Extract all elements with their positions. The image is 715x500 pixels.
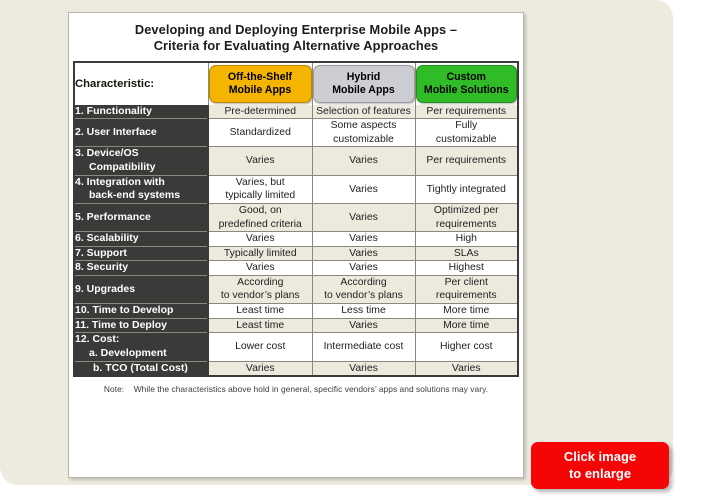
criteria-comparison-table: Characteristic: Off-the-Shelf Mobile App… [73,61,519,377]
characteristic-line-1: 5. Performance [75,211,151,223]
cell-line-1: Per requirements [416,105,518,119]
cell-cust: More time [415,303,518,318]
column-header-custom: Custom Mobile Solutions [415,62,518,105]
cell-line-1: Good, on [209,204,312,218]
cell-ots: Accordingto vendor’s plans [208,275,312,303]
cell-cust: Fullycustomizable [415,119,518,147]
cta-line-1: Click image [564,449,636,466]
cell-line-1: More time [416,319,518,333]
cell-line-1: Higher cost [416,340,518,354]
cell-ots: Varies [208,232,312,247]
cell-line-1: Lower cost [209,340,312,354]
table-row: 9. UpgradesAccordingto vendor’s plansAcc… [74,275,518,303]
cell-cust: Higher cost [415,333,518,361]
cell-hyb: Varies [312,361,415,376]
cell-hyb: Less time [312,303,415,318]
footnote-text: While the characteristics above hold in … [134,384,488,394]
characteristic-line-1: 9. Upgrades [75,283,135,295]
table-row: 12. Cost:a. DevelopmentLower costInterme… [74,333,518,361]
footnote-label: Note: [104,384,124,394]
characteristic-line-1: 12. Cost: [75,333,119,345]
cell-line-1: Varies [313,154,415,168]
table-row: 8. SecurityVariesVariesHighest [74,261,518,276]
cell-line-2: typically limited [209,189,312,203]
table-row: 7. SupportTypically limitedVariesSLAs [74,246,518,261]
cell-line-1: Varies [313,247,415,261]
cell-cust: More time [415,318,518,333]
cell-ots: Least time [208,303,312,318]
column-header-off-the-shelf: Off-the-Shelf Mobile Apps [208,62,312,105]
cell-line-2: requirements [416,289,518,303]
row-characteristic: 12. Cost:a. Development [74,333,208,361]
cell-line-1: Varies [313,362,415,376]
cell-ots: Pre-determined [208,105,312,119]
characteristic-line-1: 6. Scalability [75,232,139,244]
cell-line-2: to vendor’s plans [313,289,415,303]
table-header-row: Characteristic: Off-the-Shelf Mobile App… [74,62,518,105]
cell-line-1: Varies [209,261,312,275]
pill-hyb-line-2: Mobile Apps [332,84,395,96]
cell-line-1: Per requirements [416,154,518,168]
cell-cust: High [415,232,518,247]
table-row: 3. Device/OSCompatibilityVariesVariesPer… [74,147,518,175]
cell-line-1: Highest [416,261,518,275]
row-characteristic: 9. Upgrades [74,275,208,303]
table-row: b. TCO (Total Cost)VariesVariesVaries [74,361,518,376]
row-characteristic: b. TCO (Total Cost) [74,361,208,376]
row-characteristic: 6. Scalability [74,232,208,247]
cell-cust: Tightly integrated [415,175,518,203]
comparison-card: Developing and Deploying Enterprise Mobi… [68,12,524,478]
cell-ots: Least time [208,318,312,333]
cell-line-1: Intermediate cost [313,340,415,354]
pill-cust-line-1: Custom [447,71,486,83]
cell-ots: Varies [208,261,312,276]
cell-ots: Varies, buttypically limited [208,175,312,203]
cell-line-1: According [209,276,312,290]
cell-cust: SLAs [415,246,518,261]
row-characteristic: 2. User Interface [74,119,208,147]
characteristic-line-1: 3. Device/OS [75,147,139,159]
cell-hyb: Intermediate cost [312,333,415,361]
row-characteristic: 8. Security [74,261,208,276]
table-row: 5. PerformanceGood, onpredefined criteri… [74,203,518,231]
characteristic-line-1: 1. Functionality [75,105,152,117]
cell-cust: Per clientrequirements [415,275,518,303]
cell-hyb: Some aspectscustomizable [312,119,415,147]
row-characteristic: 7. Support [74,246,208,261]
row-characteristic: 4. Integration withback-end systems [74,175,208,203]
cell-hyb: Varies [312,246,415,261]
cell-line-1: Typically limited [209,247,312,261]
cell-cust: Highest [415,261,518,276]
cell-line-1: Optimized per [416,204,518,218]
characteristic-line-1: 7. Support [75,247,127,259]
characteristic-line-1: 10. Time to Develop [75,304,173,316]
cell-hyb: Varies [312,203,415,231]
table-row: 4. Integration withback-end systemsVarie… [74,175,518,203]
cell-line-1: Least time [209,304,312,318]
cell-line-1: Varies [209,154,312,168]
cell-ots: Lower cost [208,333,312,361]
characteristic-line-1: 2. User Interface [75,126,157,138]
cell-ots: Varies [208,361,312,376]
characteristic-line-2: Compatibility [75,161,207,175]
table-row: 10. Time to DevelopLeast timeLess timeMo… [74,303,518,318]
cell-hyb: Varies [312,232,415,247]
characteristic-line-1: 8. Security [75,261,128,273]
cell-cust: Per requirements [415,105,518,119]
table-body: 1. FunctionalityPre-determinedSelection … [74,105,518,376]
table-row: 6. ScalabilityVariesVariesHigh [74,232,518,247]
cell-line-1: Varies [313,183,415,197]
pill-ots-line-2: Mobile Apps [229,84,292,96]
cell-line-1: Standardized [209,126,312,140]
cell-line-1: Selection of features [313,105,415,119]
cell-line-1: Some aspects [313,119,415,133]
cell-line-1: Varies [209,232,312,246]
cell-cust: Optimized perrequirements [415,203,518,231]
cell-line-1: Less time [313,304,415,318]
title-line-2: Criteria for Evaluating Alternative Appr… [81,38,511,54]
cell-hyb: Varies [312,318,415,333]
cell-line-2: customizable [416,133,518,147]
pill-custom: Custom Mobile Solutions [416,65,518,103]
pill-ots-line-1: Off-the-Shelf [228,71,292,83]
cell-line-2: predefined criteria [209,218,312,232]
cell-line-1: Pre-determined [209,105,312,119]
table-row: 11. Time to DeployLeast timeVariesMore t… [74,318,518,333]
cell-line-1: Varies [313,319,415,333]
pill-cust-line-2: Mobile Solutions [424,84,509,96]
cell-hyb: Varies [312,175,415,203]
cell-hyb: Selection of features [312,105,415,119]
cell-line-1: Tightly integrated [416,183,518,197]
cell-line-1: Varies [313,261,415,275]
cell-hyb: Varies [312,147,415,175]
cell-line-1: High [416,232,518,246]
row-characteristic: 3. Device/OSCompatibility [74,147,208,175]
row-characteristic: 1. Functionality [74,105,208,119]
cell-ots: Varies [208,147,312,175]
characteristic-line-1: 11. Time to Deploy [75,319,167,331]
cell-line-2: to vendor’s plans [209,289,312,303]
cell-hyb: Varies [312,261,415,276]
cell-cust: Per requirements [415,147,518,175]
click-image-to-enlarge-button[interactable]: Click image to enlarge [531,442,669,489]
cell-line-1: Per client [416,276,518,290]
cell-line-2: customizable [313,133,415,147]
table-row: 1. FunctionalityPre-determinedSelection … [74,105,518,119]
cell-line-1: Varies [416,362,518,376]
column-header-hybrid: Hybrid Mobile Apps [312,62,415,105]
cell-line-1: According [313,276,415,290]
cell-line-1: Varies [209,362,312,376]
table-row: 2. User InterfaceStandardizedSome aspect… [74,119,518,147]
cell-line-1: SLAs [416,247,518,261]
footnote: Note: While the characteristics above ho… [74,377,518,394]
cell-hyb: Accordingto vendor’s plans [312,275,415,303]
cell-line-1: Fully [416,119,518,133]
characteristic-line-2: b. TCO (Total Cost) [75,362,207,376]
cell-cust: Varies [415,361,518,376]
row-characteristic: 10. Time to Develop [74,303,208,318]
title-line-1: Developing and Deploying Enterprise Mobi… [81,22,511,38]
cell-line-2: requirements [416,218,518,232]
page-title: Developing and Deploying Enterprise Mobi… [69,13,523,61]
cta-line-2: to enlarge [569,466,631,483]
cell-line-1: Varies, but [209,176,312,190]
pill-hybrid: Hybrid Mobile Apps [313,65,415,103]
cell-line-1: Least time [209,319,312,333]
column-header-characteristic: Characteristic: [74,62,208,105]
characteristic-line-2: back-end systems [75,189,207,203]
cell-ots: Standardized [208,119,312,147]
characteristic-line-2: a. Development [75,347,207,361]
cell-ots: Typically limited [208,246,312,261]
row-characteristic: 5. Performance [74,203,208,231]
row-characteristic: 11. Time to Deploy [74,318,208,333]
pill-hyb-line-1: Hybrid [347,71,381,83]
cell-line-1: Varies [313,232,415,246]
cell-line-1: More time [416,304,518,318]
cell-ots: Good, onpredefined criteria [208,203,312,231]
characteristic-line-1: 4. Integration with [75,176,165,188]
pill-off-the-shelf: Off-the-Shelf Mobile Apps [209,65,312,103]
cell-line-1: Varies [313,211,415,225]
